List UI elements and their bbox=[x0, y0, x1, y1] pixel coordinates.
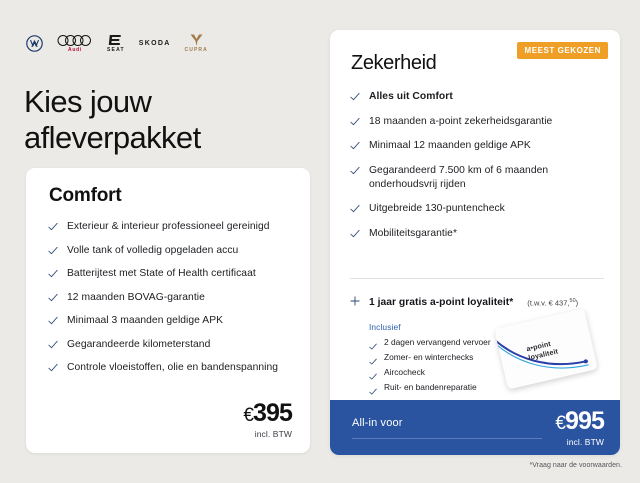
audi-logo: Audi bbox=[57, 34, 93, 53]
list-item: Uitgebreide 130-puntencheck bbox=[350, 202, 606, 216]
comfort-package-card[interactable]: Comfort Exterieur & interieur profession… bbox=[26, 168, 310, 453]
zekerheid-title: Zekerheid bbox=[351, 52, 436, 75]
feature-text: Alles uit Comfort bbox=[369, 90, 453, 104]
list-item: Ruit- en bandenreparatie bbox=[369, 382, 491, 393]
loyalty-value-suffix: ) bbox=[576, 298, 579, 307]
page-root: Audi SEAT SKODA CUPRA Kies jouw afleverp… bbox=[0, 0, 640, 483]
list-item: 12 maanden BOVAG-garantie bbox=[48, 291, 294, 305]
loyalty-value: (t.w.v. € 437,50) bbox=[527, 298, 578, 308]
allin-price: €995 bbox=[555, 409, 604, 434]
check-icon bbox=[48, 269, 58, 279]
list-item: Mobiliteitsgarantie* bbox=[350, 227, 606, 241]
currency-symbol: € bbox=[555, 413, 565, 434]
comfort-price-block: €395 incl. BTW bbox=[243, 401, 292, 439]
brand-logo-bar: Audi SEAT SKODA CUPRA bbox=[26, 33, 208, 53]
check-icon bbox=[350, 204, 360, 214]
check-icon bbox=[48, 222, 58, 232]
skoda-wordmark: SKODA bbox=[139, 40, 171, 47]
audi-wordmark: Audi bbox=[68, 48, 82, 53]
zekerheid-feature-list: Alles uit Comfort 18 maanden a-point zek… bbox=[350, 90, 606, 252]
included-text: Aircocheck bbox=[384, 367, 425, 378]
feature-text: Exterieur & interieur professioneel gere… bbox=[67, 220, 270, 234]
check-icon bbox=[350, 166, 360, 176]
cupra-wordmark: CUPRA bbox=[185, 48, 208, 53]
check-icon bbox=[369, 338, 377, 346]
list-item: Gegarandeerde kilometerstand bbox=[48, 338, 294, 352]
list-item: Exterieur & interieur professioneel gere… bbox=[48, 220, 294, 234]
page-title: Kies jouw afleverpakket bbox=[24, 84, 304, 156]
comfort-price-note: incl. BTW bbox=[243, 429, 292, 439]
feature-text: Volle tank of volledig opgeladen accu bbox=[67, 244, 238, 258]
check-icon bbox=[369, 353, 377, 361]
list-item: Alles uit Comfort bbox=[350, 90, 606, 104]
list-item: Aircocheck bbox=[369, 367, 491, 378]
feature-text: Batterijtest met State of Health certifi… bbox=[67, 267, 256, 281]
allin-rule bbox=[352, 438, 542, 439]
feature-text: Mobiliteitsgarantie* bbox=[369, 227, 457, 241]
included-block: Inclusief 2 dagen vervangend vervoer Zom… bbox=[369, 322, 491, 397]
feature-text: Minimaal 12 maanden geldige APK bbox=[369, 139, 531, 153]
list-item: 2 dagen vervangend vervoer bbox=[369, 337, 491, 348]
seat-logo: SEAT bbox=[107, 33, 125, 53]
list-item: Zomer- en winterchecks bbox=[369, 352, 491, 363]
comfort-title: Comfort bbox=[49, 185, 121, 207]
check-icon bbox=[48, 246, 58, 256]
footer-disclaimer: *Vraag naar de voorwaarden. bbox=[529, 462, 622, 469]
skoda-logo: SKODA bbox=[139, 39, 171, 47]
check-icon bbox=[369, 368, 377, 376]
list-item: Minimaal 12 maanden geldige APK bbox=[350, 139, 606, 153]
zekerheid-package-card[interactable]: MEEST GEKOZEN Zekerheid Alles uit Comfor… bbox=[330, 30, 620, 455]
allin-label: All-in voor bbox=[352, 417, 403, 429]
loyalty-value-prefix: (t.w.v. € 437, bbox=[527, 298, 569, 307]
list-item: Gegarandeerd 7.500 km of 6 maanden onder… bbox=[350, 164, 606, 191]
allin-price-note: incl. BTW bbox=[555, 437, 604, 447]
check-icon bbox=[48, 363, 58, 373]
volkswagen-logo bbox=[26, 35, 43, 52]
included-text: Zomer- en winterchecks bbox=[384, 352, 473, 363]
check-icon bbox=[369, 383, 377, 391]
comfort-price: €395 bbox=[243, 401, 292, 426]
feature-text: Gegarandeerde kilometerstand bbox=[67, 338, 210, 352]
plus-icon bbox=[350, 293, 360, 303]
feature-text: Minimaal 3 maanden geldige APK bbox=[67, 314, 223, 328]
list-item: Minimaal 3 maanden geldige APK bbox=[48, 314, 294, 328]
check-icon bbox=[48, 340, 58, 350]
included-text: 2 dagen vervangend vervoer bbox=[384, 337, 491, 348]
list-item: Controle vloeistoffen, olie en bandenspa… bbox=[48, 361, 294, 375]
feature-text: 12 maanden BOVAG-garantie bbox=[67, 291, 205, 305]
cupra-logo: CUPRA bbox=[185, 33, 208, 53]
price-amount: 395 bbox=[253, 399, 292, 427]
list-item: Batterijtest met State of Health certifi… bbox=[48, 267, 294, 281]
allin-price-block: €995 incl. BTW bbox=[555, 409, 604, 447]
currency-symbol: € bbox=[243, 405, 253, 426]
included-heading: Inclusief bbox=[369, 322, 491, 332]
feature-text: Uitgebreide 130-puntencheck bbox=[369, 202, 505, 216]
check-icon bbox=[350, 92, 360, 102]
check-icon bbox=[48, 316, 58, 326]
seat-wordmark: SEAT bbox=[107, 48, 125, 53]
list-item: Volle tank of volledig opgeladen accu bbox=[48, 244, 294, 258]
section-divider bbox=[350, 278, 604, 279]
check-icon bbox=[350, 229, 360, 239]
allin-price-bar: All-in voor €995 incl. BTW bbox=[330, 400, 620, 455]
feature-text: Controle vloeistoffen, olie en bandenspa… bbox=[67, 361, 278, 375]
feature-text: Gegarandeerd 7.500 km of 6 maanden onder… bbox=[369, 164, 606, 191]
loyalty-title: 1 jaar gratis a-point loyaliteit* bbox=[369, 297, 513, 308]
list-item: 18 maanden a-point zekerheidsgarantie bbox=[350, 115, 606, 129]
feature-text: 18 maanden a-point zekerheidsgarantie bbox=[369, 115, 552, 129]
status-badge: MEEST GEKOZEN bbox=[517, 42, 609, 59]
loyalty-row: 1 jaar gratis a-point loyaliteit* (t.w.v… bbox=[350, 292, 606, 308]
comfort-feature-list: Exterieur & interieur professioneel gere… bbox=[48, 220, 294, 385]
check-icon bbox=[350, 141, 360, 151]
left-column: Audi SEAT SKODA CUPRA Kies jouw afleverp… bbox=[0, 0, 320, 483]
check-icon bbox=[350, 117, 360, 127]
check-icon bbox=[48, 293, 58, 303]
included-text: Ruit- en bandenreparatie bbox=[384, 382, 477, 393]
price-amount: 995 bbox=[565, 407, 604, 435]
